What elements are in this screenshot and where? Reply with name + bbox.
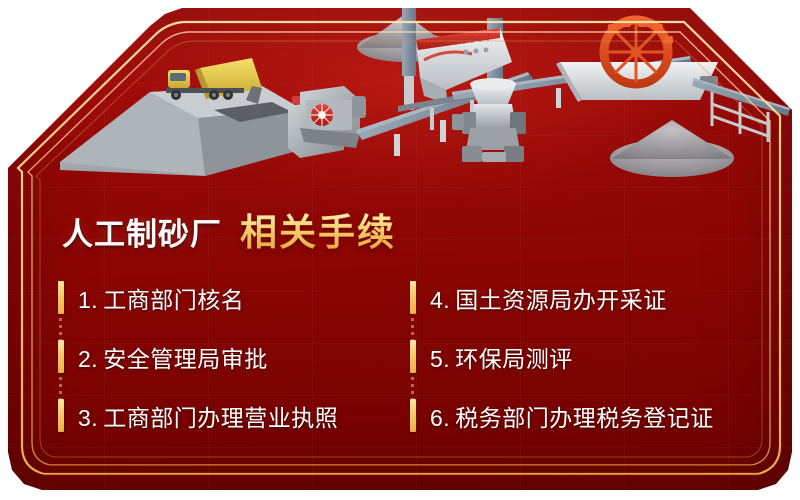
list-item[interactable]: 6.税务部门办理税务登记证 bbox=[410, 386, 748, 445]
item-marker-bar bbox=[410, 281, 416, 314]
list-item-number: 4. bbox=[430, 287, 450, 313]
content-layer: 人工制砂厂 相关手续 1.工商部门核名 4.国土资源局办开采证 bbox=[0, 0, 800, 500]
list-item-label: 环保局测评 bbox=[455, 346, 573, 372]
list-item-number: 5. bbox=[430, 346, 450, 372]
list-item[interactable]: 2.安全管理局审批 bbox=[58, 327, 410, 386]
item-marker-bar bbox=[58, 281, 64, 314]
list-item-text: 6.税务部门办理税务登记证 bbox=[430, 399, 714, 433]
list-item-number: 1. bbox=[78, 287, 98, 313]
poster-title: 人工制砂厂 相关手续 bbox=[62, 202, 396, 256]
poster-root: 人工制砂厂 相关手续 1.工商部门核名 4.国土资源局办开采证 bbox=[0, 0, 800, 500]
list-item-text: 5.环保局测评 bbox=[430, 340, 573, 374]
list-item[interactable]: 5.环保局测评 bbox=[410, 327, 748, 386]
item-marker-bar bbox=[58, 340, 64, 373]
list-item-text: 2.安全管理局审批 bbox=[78, 340, 268, 374]
list-item-label: 安全管理局审批 bbox=[103, 346, 268, 372]
list-item-number: 2. bbox=[78, 346, 98, 372]
procedure-list: 1.工商部门核名 4.国土资源局办开采证 2.安全管理局审批 bbox=[58, 268, 748, 445]
list-item-label: 工商部门核名 bbox=[103, 287, 244, 313]
item-marker-bar bbox=[410, 340, 416, 373]
item-marker-bar bbox=[58, 399, 64, 432]
list-item-label: 工商部门办理营业执照 bbox=[103, 405, 338, 431]
list-item[interactable]: 3.工商部门办理营业执照 bbox=[58, 386, 410, 445]
item-marker-bar bbox=[410, 399, 416, 432]
list-item[interactable]: 1.工商部门核名 bbox=[58, 268, 410, 327]
list-item-text: 3.工商部门办理营业执照 bbox=[78, 399, 338, 433]
list-item-text: 1.工商部门核名 bbox=[78, 281, 244, 315]
list-item[interactable]: 4.国土资源局办开采证 bbox=[410, 268, 748, 327]
list-item-number: 3. bbox=[78, 405, 98, 431]
list-item-label: 税务部门办理税务登记证 bbox=[455, 405, 714, 431]
list-item-label: 国土资源局办开采证 bbox=[455, 287, 667, 313]
title-main-text: 人工制砂厂 bbox=[62, 209, 222, 254]
list-item-text: 4.国土资源局办开采证 bbox=[430, 281, 667, 315]
list-item-number: 6. bbox=[430, 405, 450, 431]
title-accent-text: 相关手续 bbox=[240, 202, 396, 256]
